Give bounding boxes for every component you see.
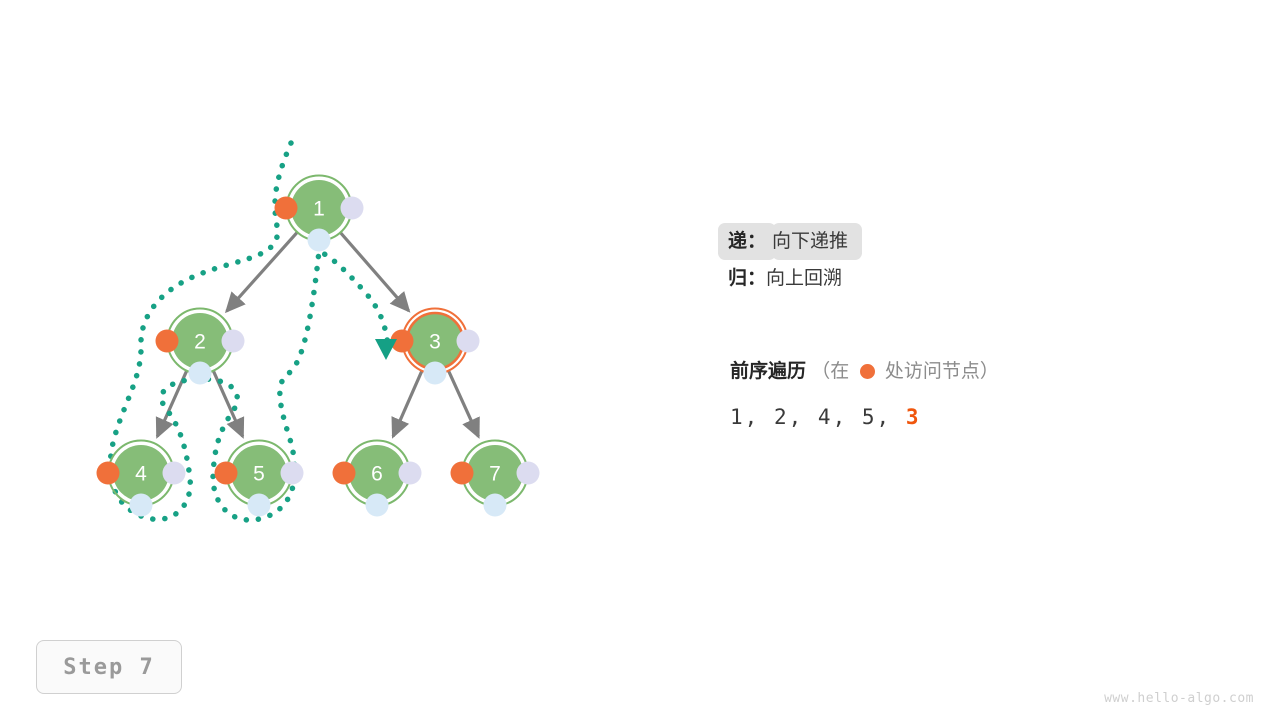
sequence-separator: ,	[789, 405, 818, 429]
step-badge: Step 7	[36, 640, 182, 694]
pointer-triangle-icon	[375, 339, 397, 360]
sequence-item: 5	[862, 405, 877, 429]
preorder-dot-icon	[97, 462, 120, 485]
legend-return-text: 向上回溯	[766, 268, 842, 289]
tree-edge	[393, 370, 422, 436]
tree-node-2[interactable]: 2	[156, 309, 245, 385]
sequence-separator: ,	[833, 405, 862, 429]
preorder-dot-icon	[156, 330, 179, 353]
traversal-note-after: 处访问节点）	[885, 361, 999, 382]
tree-node-6[interactable]: 6	[333, 441, 422, 517]
inorder-dot-icon	[341, 197, 364, 220]
legend-recurse-text: 向下递推	[772, 223, 862, 260]
tree-node-1[interactable]: 1	[275, 176, 364, 252]
tree-edge	[213, 370, 243, 436]
tree-node-3[interactable]: 3	[391, 309, 480, 385]
tree-node-7[interactable]: 7	[451, 441, 540, 517]
preorder-dot-icon	[215, 462, 238, 485]
inorder-dot-icon	[163, 462, 186, 485]
node-value: 6	[371, 463, 383, 486]
postorder-dot-icon	[189, 362, 212, 385]
sequence-separator: ,	[745, 405, 774, 429]
tree-edge	[340, 232, 409, 311]
sequence-item: 1	[730, 405, 745, 429]
postorder-dot-icon	[130, 494, 153, 517]
orange-dot-icon	[860, 364, 875, 379]
traversal-name: 前序遍历	[730, 361, 806, 382]
binary-tree-diagram: 1234567	[0, 0, 1280, 720]
current-node-pointer	[375, 339, 397, 360]
step-badge-label: Step 7	[63, 655, 154, 680]
tree-edge	[448, 370, 478, 436]
sequence-item: 4	[818, 405, 833, 429]
traversal-note-before: （在	[811, 361, 849, 382]
legend-recurse-line: 递：向下递推	[728, 232, 1208, 251]
legend-panel: 递：向下递推 归：向上回溯	[728, 232, 1208, 306]
node-value: 1	[313, 198, 325, 221]
preorder-dot-icon	[275, 197, 298, 220]
node-value: 5	[253, 463, 265, 486]
legend-recurse-keyword: 递：	[718, 223, 776, 260]
sequence-separator: ,	[877, 405, 906, 429]
traversal-result-block: 前序遍历 （在 处访问节点） 1, 2, 4, 5, 3	[730, 362, 1230, 429]
tree-nodes: 1234567	[97, 176, 540, 517]
node-value: 7	[489, 463, 501, 486]
postorder-dot-icon	[484, 494, 507, 517]
postorder-dot-icon	[366, 494, 389, 517]
node-value: 3	[429, 331, 441, 354]
tree-node-5[interactable]: 5	[215, 441, 304, 517]
inorder-dot-icon	[457, 330, 480, 353]
watermark: www.hello-algo.com	[1104, 691, 1254, 706]
inorder-dot-icon	[517, 462, 540, 485]
postorder-dot-icon	[248, 494, 271, 517]
traversal-sequence: 1, 2, 4, 5, 3	[730, 405, 1230, 429]
tree-node-4[interactable]: 4	[97, 441, 186, 517]
sequence-item: 2	[774, 405, 789, 429]
traversal-title: 前序遍历 （在 处访问节点）	[730, 362, 1230, 381]
preorder-dot-icon	[333, 462, 356, 485]
legend-return-keyword: 归：	[728, 268, 766, 289]
inorder-dot-icon	[399, 462, 422, 485]
postorder-dot-icon	[308, 229, 331, 252]
postorder-dot-icon	[424, 362, 447, 385]
legend-return-line: 归：向上回溯	[728, 269, 1208, 288]
inorder-dot-icon	[222, 330, 245, 353]
node-value: 2	[194, 331, 206, 354]
preorder-traversal-animation-frame: 1234567 递：向下递推 归：向上回溯 前序遍历 （在 处访问节点） 1, …	[0, 0, 1280, 720]
node-value: 4	[135, 463, 147, 486]
tree-edge	[227, 232, 298, 311]
sequence-item-current: 3	[906, 405, 921, 429]
preorder-dot-icon	[451, 462, 474, 485]
inorder-dot-icon	[281, 462, 304, 485]
